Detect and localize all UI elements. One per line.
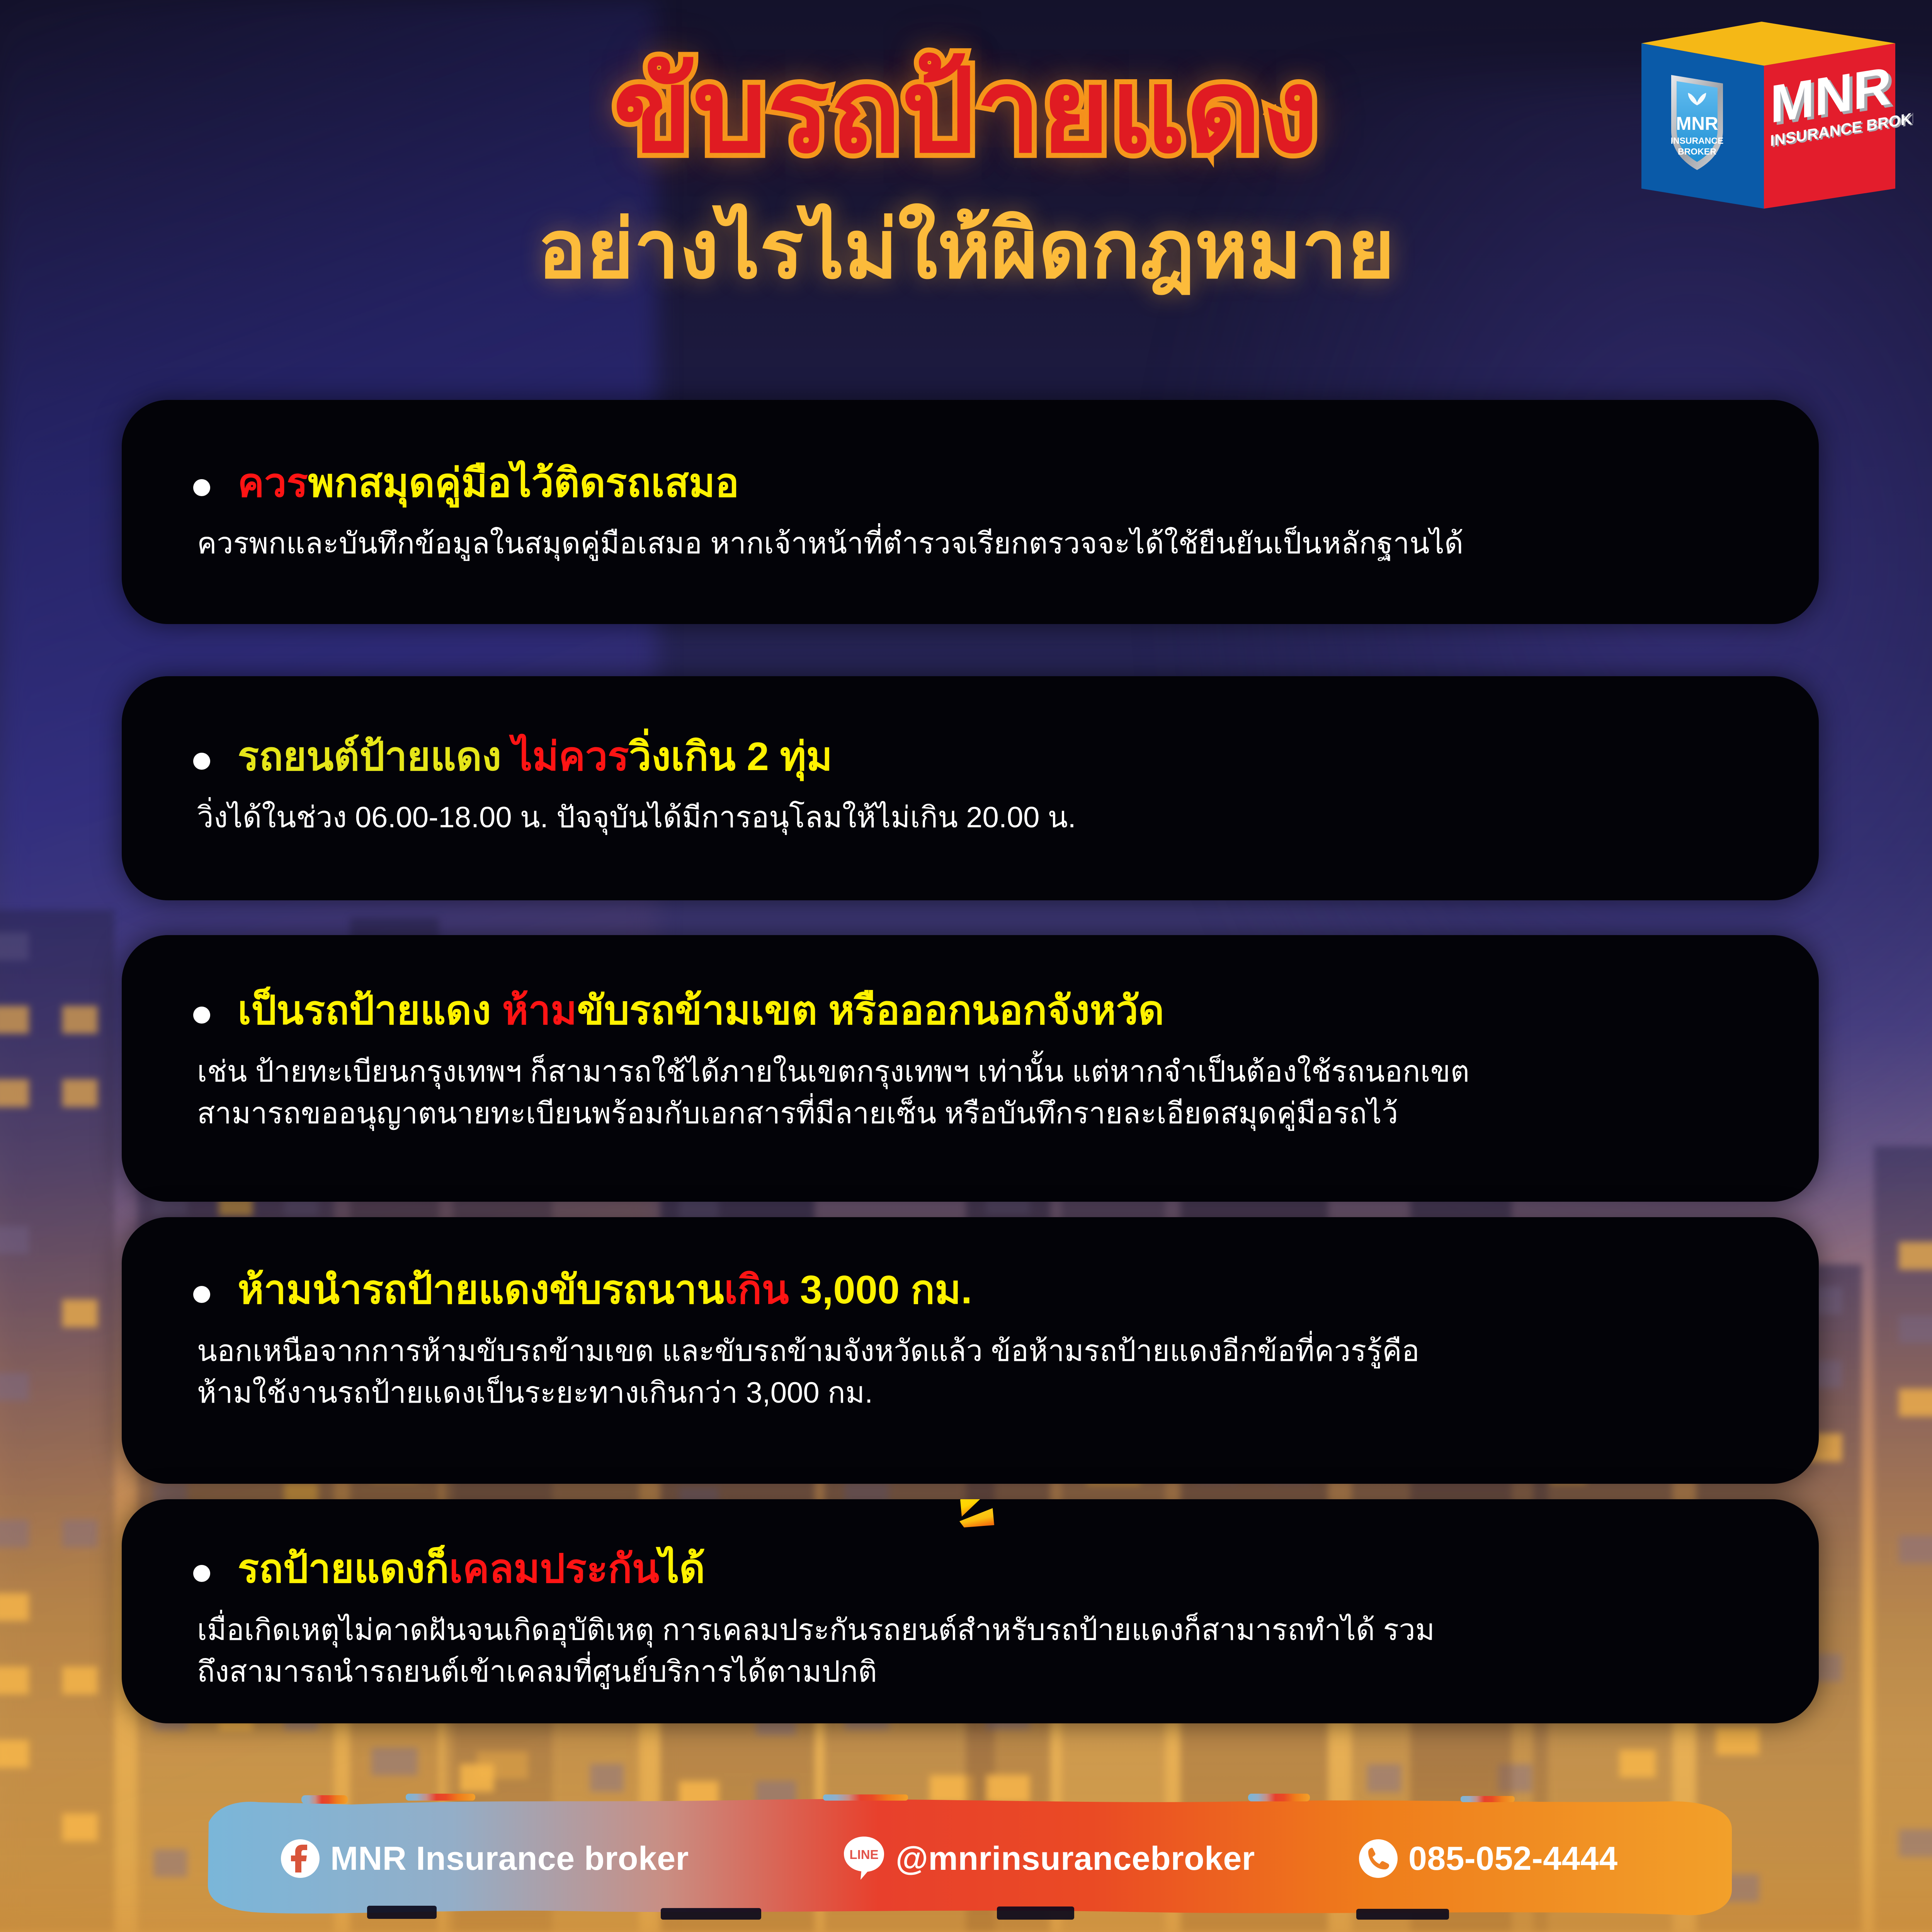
tip-card-4-body-line-2: ห้ามใช้งานรถป้ายแดงเป็นระยะทางเกินกว่า 3… <box>197 1372 1772 1414</box>
background-window <box>1619 1750 1656 1777</box>
background-window <box>0 1520 29 1548</box>
tip-card-4-heading-part-1: ห้ามนำรถป้ายแดงขับรถนาน <box>238 1267 724 1312</box>
bullet-point-icon <box>193 1286 210 1303</box>
tip-card-4-body: นอกเหนือจากการห้ามขับรถข้ามเขต และขับรถข… <box>197 1330 1772 1414</box>
background-window <box>62 1813 98 1841</box>
background-window <box>0 932 29 960</box>
tip-card-5-body-line-1: เมื่อเกิดเหตุไม่คาดฝันจนเกิดอุบัติเหตุ ก… <box>197 1609 1772 1651</box>
footer-line-contact[interactable]: LINE @mnrinsurancebroker <box>842 1835 1255 1882</box>
logo-shield-brand: MNR <box>1676 114 1718 134</box>
flag-arrow-icon <box>929 1499 1026 1567</box>
tip-card-1-heading-part-2: พกสมุดคู่มือไว้ติดรถเสมอ <box>308 461 739 505</box>
background-window <box>1899 1829 1932 1857</box>
background-window <box>0 1226 29 1254</box>
tip-card-5-heading-part-3: ได้ <box>659 1546 705 1591</box>
tip-card-2: รถยนต์ป้ายแดง ไม่ควรวิ่งเกิน 2 ทุ่ม วิ่ง… <box>122 676 1819 900</box>
background-building <box>1874 1146 1932 1932</box>
bullet-point-icon <box>193 753 210 770</box>
tip-card-4-body-line-1: นอกเหนือจากการห้ามขับรถข้ามเขต และขับรถข… <box>197 1330 1772 1372</box>
tip-card-2-heading-part-1: รถยนต์ป้ายแดง <box>238 734 512 779</box>
tip-card-2-body: วิ่งได้ในช่วง 06.00-18.00 น. ปัจจุบันได้… <box>197 797 1772 838</box>
background-window <box>0 1006 29 1034</box>
tip-card-3-heading-part-2: ห้าม <box>502 988 577 1032</box>
mnr-logo-cube: MNR INSURANCE BROKER MNR MNR INSURANCE B… <box>1608 15 1913 213</box>
tip-card-3-heading: เป็นรถป้ายแดง ห้ามขับรถข้ามเขต หรือออกนอ… <box>238 986 1164 1035</box>
footer-phone-contact[interactable]: 085-052-4444 <box>1358 1838 1618 1879</box>
page-subtitle: อย่างไรไม่ให้ผิดกฎหมาย <box>0 205 1932 294</box>
tip-card-5-heading-part-1: รถป้ายแดงก็ <box>238 1546 449 1591</box>
tip-card-3: เป็นรถป้ายแดง ห้ามขับรถข้ามเขต หรือออกนอ… <box>122 935 1819 1202</box>
background-window <box>371 1748 418 1776</box>
tip-card-4-heading: ห้ามนำรถป้ายแดงขับรถนานเกิน 3,000 กม. <box>238 1265 972 1314</box>
background-window <box>1899 1536 1932 1563</box>
tip-card-1-heading-part-1: ควร <box>238 461 308 505</box>
background-window <box>0 1667 29 1694</box>
background-window <box>1899 1389 1932 1417</box>
tip-card-5-body: เมื่อเกิดเหตุไม่คาดฝันจนเกิดอุบัติเหตุ ก… <box>197 1609 1772 1693</box>
tip-card-4-heading-part-3: 3,000 กม. <box>789 1267 972 1312</box>
tip-card-2-heading: รถยนต์ป้ายแดง ไม่ควรวิ่งเกิน 2 ทุ่ม <box>238 732 832 781</box>
background-window <box>153 1849 187 1877</box>
tip-card-1-body: ควรพกและบันทึกข้อมูลในสมุดคู่มือเสมอ หาก… <box>197 523 1772 565</box>
background-window <box>62 1520 98 1548</box>
background-window <box>0 1593 29 1621</box>
tip-card-5-heading-part-2: เคลมประกัน <box>449 1546 659 1591</box>
background-window <box>62 1006 98 1034</box>
tip-card-1-heading: ควรพกสมุดคู่มือไว้ติดรถเสมอ <box>238 459 739 507</box>
background-window <box>1899 1315 1932 1343</box>
tip-card-3-heading-part-3: ขับรถข้ามเขต หรือออกนอกจังหวัด <box>577 988 1164 1032</box>
bullet-point-icon <box>193 479 210 496</box>
line-icon[interactable]: LINE <box>842 1835 886 1882</box>
background-window <box>62 1079 98 1107</box>
infographic-poster: ขับรถป้ายแดง อย่างไรไม่ให้ผิดกฎหมาย <box>0 0 1932 1932</box>
background-window <box>1716 1727 1759 1755</box>
tip-card-5: รถป้ายแดงก็เคลมประกันได้ <box>122 1499 1819 1723</box>
background-window <box>0 1079 29 1107</box>
tip-card-3-body-line-2: สามารถขออนุญาตนายทะเบียนพร้อมกับเอกสารที… <box>197 1093 1772 1134</box>
tip-card-4-heading-part-2: เกิน <box>724 1267 789 1312</box>
contact-footer-banner: MNR Insurance broker LINE @mnrinsuranceb… <box>205 1793 1735 1924</box>
background-window <box>0 1740 29 1768</box>
line-icon-text: LINE <box>849 1847 878 1862</box>
logo-shield-tagline-2: BROKER <box>1678 146 1716 156</box>
background-building <box>0 910 114 1932</box>
tip-card-3-heading-part-1: เป็นรถป้ายแดง <box>238 988 502 1032</box>
tip-card-1: ควรพกสมุดคู่มือไว้ติดรถเสมอ ควรพกและบันท… <box>122 400 1819 624</box>
tip-card-2-heading-part-2: ไม่ควร <box>512 734 629 779</box>
tip-card-5-body-line-2: ถึงสามารถนำรถยนต์เข้าเคลมที่ศูนย์บริการไ… <box>197 1651 1772 1693</box>
footer-phone-label[interactable]: 085-052-4444 <box>1408 1840 1618 1878</box>
background-window <box>62 1667 98 1694</box>
background-window <box>590 1764 624 1792</box>
bullet-point-icon <box>193 1565 210 1582</box>
background-window <box>62 1299 98 1327</box>
footer-facebook-label[interactable]: MNR Insurance broker <box>330 1840 689 1878</box>
background-window <box>1899 1242 1932 1270</box>
tip-card-5-heading: รถป้ายแดงก็เคลมประกันได้ <box>238 1544 705 1593</box>
tip-card-2-body-line-1: วิ่งได้ในช่วง 06.00-18.00 น. ปัจจุบันได้… <box>197 797 1772 838</box>
background-window <box>460 1764 493 1792</box>
tip-card-2-heading-part-3: วิ่งเกิน 2 ทุ่ม <box>629 734 832 779</box>
tip-card-1-body-line-1: ควรพกและบันทึกข้อมูลในสมุดคู่มือเสมอ หาก… <box>197 523 1772 565</box>
background-window <box>1367 1764 1401 1792</box>
footer-line-label[interactable]: @mnrinsurancebroker <box>896 1840 1255 1878</box>
tip-card-3-body-line-1: เช่น ป้ายทะเบียนกรุงเทพฯ ก็สามารถใช้ได้ภ… <box>197 1051 1772 1093</box>
phone-icon[interactable] <box>1358 1838 1398 1879</box>
logo-shield-tagline-1: INSURANCE <box>1671 136 1724 146</box>
background-window <box>0 1373 29 1401</box>
bullet-point-icon <box>193 1007 210 1024</box>
tip-card-3-body: เช่น ป้ายทะเบียนกรุงเทพฯ ก็สามารถใช้ได้ภ… <box>197 1051 1772 1134</box>
facebook-icon[interactable] <box>280 1838 320 1879</box>
footer-facebook-contact[interactable]: MNR Insurance broker <box>280 1838 689 1879</box>
tip-card-4: ห้ามนำรถป้ายแดงขับรถนานเกิน 3,000 กม. นอ… <box>122 1217 1819 1484</box>
